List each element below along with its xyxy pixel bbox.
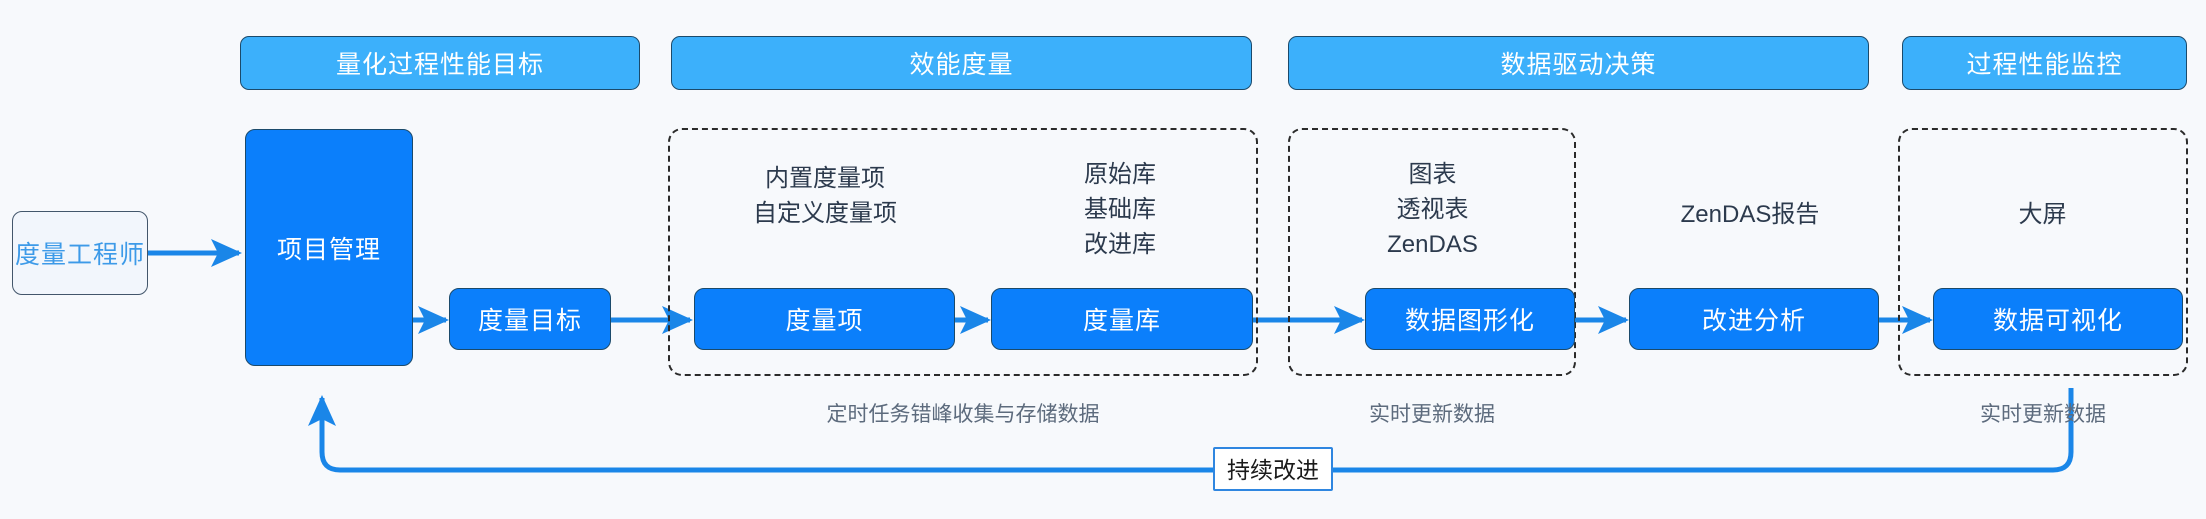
node-metric-item[interactable]: 度量项: [694, 288, 955, 350]
caption-scheduled-collection: 定时任务错峰收集与存储数据: [668, 398, 1258, 428]
node-improvement-analysis[interactable]: 改进分析: [1629, 288, 1879, 350]
annotation-repository-types: 原始库 基础库 改进库: [985, 158, 1255, 262]
feedback-loop-text: 持续改进: [1227, 451, 1319, 485]
node-label: 数据可视化: [1993, 301, 2123, 337]
node-data-graphical[interactable]: 数据图形化: [1365, 288, 1575, 350]
phase-header-label: 效能度量: [909, 45, 1013, 81]
caption-realtime-update-decision: 实时更新数据: [1288, 398, 1576, 428]
annotation-zendas-report: ZenDAS报告: [1625, 198, 1875, 233]
phase-header-data-driven-decision: 数据驱动决策: [1288, 36, 1869, 90]
node-metric-goal[interactable]: 度量目标: [449, 288, 611, 350]
node-label: 改进分析: [1702, 301, 1806, 337]
node-metric-repository[interactable]: 度量库: [991, 288, 1253, 350]
caption-realtime-update-monitoring: 实时更新数据: [1898, 398, 2188, 428]
node-project-management[interactable]: 项目管理: [245, 129, 413, 366]
phase-header-quantified-goals: 量化过程性能目标: [240, 36, 640, 90]
node-label: 度量库: [1083, 301, 1161, 337]
node-label: 数据图形化: [1405, 301, 1535, 337]
node-metric-engineer[interactable]: 度量工程师: [12, 211, 148, 295]
phase-header-efficiency-measurement: 效能度量: [671, 36, 1252, 90]
annotation-chart-types: 图表 透视表 ZenDAS: [1300, 158, 1565, 262]
phase-header-label: 数据驱动决策: [1500, 45, 1656, 81]
annotation-metric-item-types: 内置度量项 自定义度量项: [690, 162, 960, 232]
phase-header-process-performance-monitoring: 过程性能监控: [1902, 36, 2187, 90]
phase-header-label: 量化过程性能目标: [336, 45, 544, 81]
feedback-loop-label: 持续改进: [1213, 447, 1333, 491]
annotation-big-screen: 大屏: [1915, 198, 2170, 233]
node-label: 度量项: [785, 301, 863, 337]
node-label: 度量工程师: [15, 235, 145, 271]
node-label: 度量目标: [478, 301, 582, 337]
node-label: 项目管理: [277, 230, 381, 266]
diagram-canvas: 量化过程性能目标 效能度量 数据驱动决策 过程性能监控 内置度量项 自定义度量项…: [0, 0, 2206, 519]
node-data-visualization[interactable]: 数据可视化: [1933, 288, 2183, 350]
phase-header-label: 过程性能监控: [1966, 45, 2122, 81]
